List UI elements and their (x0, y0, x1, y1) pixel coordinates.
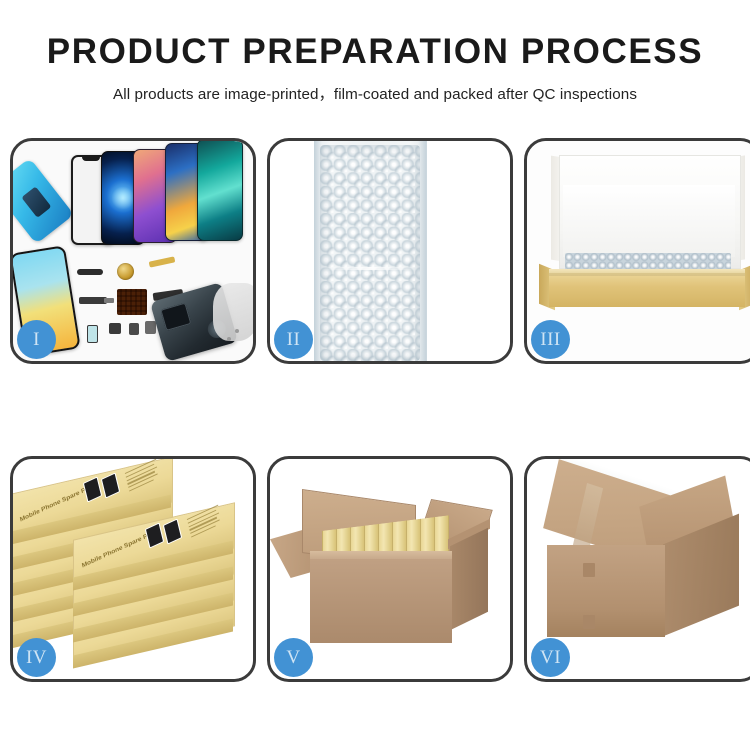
foam-sheet-icon (563, 185, 735, 257)
step-badge-2: II (274, 320, 313, 359)
kraft-box-front-icon (549, 273, 745, 307)
sim-tray-part-icon (87, 325, 98, 343)
bubble-wrap-seam-icon (320, 267, 420, 270)
step-numeral: I (33, 329, 40, 351)
carton-tab-icon (583, 615, 595, 629)
step-badge-1: I (17, 320, 56, 359)
small-component-icon (145, 321, 156, 334)
step-numeral: II (287, 329, 301, 351)
phone-screen-teal-icon (197, 141, 243, 241)
product-preparation-infographic: PRODUCT PREPARATION PROCESS All products… (0, 0, 750, 750)
process-step-panel-4: Mobile Phone Spare Parts Mobile Phone Sp… (10, 456, 256, 682)
carton-front-icon (547, 545, 665, 637)
process-step-panel-6: VI (524, 456, 750, 682)
step-badge-3: III (531, 320, 570, 359)
step-numeral: VI (540, 647, 561, 669)
page-subtitle: All products are image-printed，film-coat… (0, 82, 750, 104)
flex-cable-part-icon (79, 297, 107, 304)
page-title: PRODUCT PREPARATION PROCESS (0, 34, 750, 71)
step-numeral: III (540, 329, 560, 351)
process-step-grid: I II (10, 138, 748, 682)
process-step-panel-3: III (524, 138, 750, 364)
screw-icon (227, 337, 231, 341)
bubble-wrap-edge-icon (418, 141, 427, 361)
small-component-icon (109, 323, 121, 334)
copper-coil-part-icon (117, 263, 134, 280)
speaker-mesh-part-icon (77, 269, 103, 275)
step-badge-4: IV (17, 638, 56, 677)
screw-icon (235, 329, 239, 333)
step-badge-5: V (274, 638, 313, 677)
step-badge-6: VI (531, 638, 570, 677)
bubble-wrap-bubbles-overlay-icon (320, 145, 420, 361)
small-component-icon (129, 323, 139, 335)
process-step-panel-5: V (267, 456, 513, 682)
process-step-panel-2: II (267, 138, 513, 364)
bubble-wrap-edge-icon (314, 141, 322, 361)
step-numeral: IV (26, 647, 47, 669)
header: PRODUCT PREPARATION PROCESS All products… (0, 0, 750, 104)
connector-grid-part-icon (117, 289, 147, 315)
hand-holding-part-icon (213, 283, 253, 341)
carton-tab-icon (583, 563, 595, 577)
process-step-panel-1: I (10, 138, 256, 364)
step-numeral: V (286, 647, 300, 669)
